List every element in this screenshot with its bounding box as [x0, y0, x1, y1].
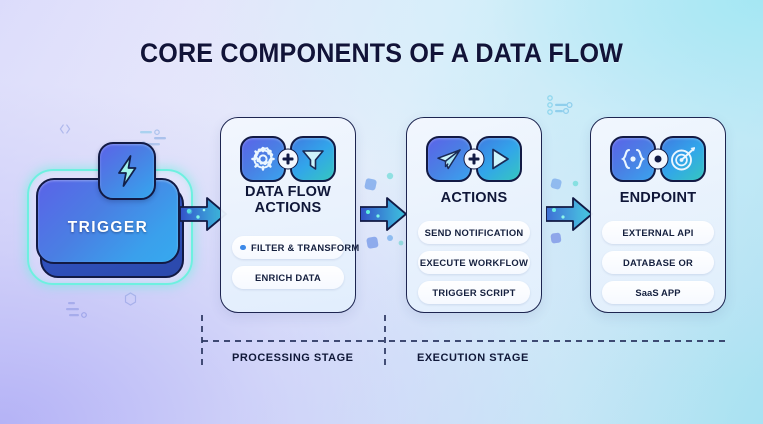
cube-particle-2 — [366, 236, 380, 250]
page-title: CORE COMPONENTS OF A DATA FLOW — [27, 38, 737, 69]
list-item[interactable]: EXECUTE WORKFLOW — [418, 251, 530, 274]
infographic-canvas: CORE COMPONENTS OF A DATA FLOW TRIGGER — [0, 0, 763, 424]
card-actions[interactable]: ACTIONS SEND NOTIFICATION EXECUTE WORKFL… — [406, 117, 542, 313]
bullet-dot-icon — [240, 245, 246, 251]
trigger-label: TRIGGER — [68, 205, 148, 237]
cube-particle-3 — [550, 178, 563, 191]
list-item-label: EXECUTE WORKFLOW — [420, 257, 528, 268]
trigger-block[interactable]: TRIGGER — [36, 178, 184, 276]
cube-particle-1 — [364, 178, 378, 192]
list-item-label: TRIGGER SCRIPT — [432, 287, 515, 298]
dot-icon — [648, 149, 669, 170]
dot-particle-3 — [398, 240, 404, 246]
card-title-actions: ACTIONS — [413, 190, 535, 206]
pill-list-actions: SEND NOTIFICATION EXECUTE WORKFLOW TRIGG… — [418, 221, 530, 311]
dot-particle-2 — [386, 234, 394, 242]
list-item[interactable]: FILTER & TRANSFORM — [232, 236, 344, 259]
icon-pair-dataflow — [240, 136, 336, 182]
lightning-bolt-icon — [98, 142, 156, 200]
list-item-label: EXTERNAL API — [622, 227, 693, 238]
hexagon-glyph — [124, 292, 137, 306]
dot-particle-1 — [386, 172, 394, 180]
list-item[interactable]: EXTERNAL API — [602, 221, 714, 244]
dot-particle-4 — [572, 180, 579, 187]
list-item[interactable]: SEND NOTIFICATION — [418, 221, 530, 244]
list-item-label: ENRICH DATA — [255, 272, 321, 283]
icon-pair-actions — [426, 136, 522, 182]
card-title-endpoint: ENDPOINT — [597, 190, 719, 206]
plus-icon — [464, 149, 485, 170]
code-bracket-glyph — [58, 122, 72, 136]
list-item-label: FILTER & TRANSFORM — [251, 242, 359, 253]
card-title-line-2: ACTIONS — [227, 200, 349, 216]
sliders-glyph-bottom — [64, 300, 94, 324]
arrow-dataflow-to-actions — [360, 196, 408, 232]
arrow-actions-to-endpoint — [546, 196, 594, 232]
pill-list-data-flow-actions: FILTER & TRANSFORM ENRICH DATA — [232, 236, 344, 296]
list-item-label: SEND NOTIFICATION — [425, 227, 524, 238]
list-item-label: SaaS APP — [635, 287, 680, 298]
list-item[interactable]: DATABASE OR — [602, 251, 714, 274]
list-item[interactable]: TRIGGER SCRIPT — [418, 281, 530, 304]
card-title-line-1: DATA FLOW — [227, 184, 349, 200]
list-item[interactable]: SaaS APP — [602, 281, 714, 304]
sliders-glyph-right — [546, 92, 576, 120]
list-item[interactable]: ENRICH DATA — [232, 266, 344, 289]
stage-label-execution: EXECUTION STAGE — [417, 352, 529, 364]
icon-pair-endpoint — [610, 136, 706, 182]
list-item-label: DATABASE OR — [623, 257, 693, 268]
stage-label-processing: PROCESSING STAGE — [232, 352, 353, 364]
card-data-flow-actions[interactable]: DATA FLOW ACTIONS FILTER & TRANSFORM ENR… — [220, 117, 356, 313]
cube-particle-4 — [550, 232, 563, 245]
pill-list-endpoint: EXTERNAL API DATABASE OR SaaS APP — [602, 221, 714, 311]
plus-icon — [278, 149, 299, 170]
card-endpoint[interactable]: ENDPOINT EXTERNAL API DATABASE OR SaaS A… — [590, 117, 726, 313]
card-title-data-flow-actions: DATA FLOW ACTIONS — [227, 184, 349, 216]
